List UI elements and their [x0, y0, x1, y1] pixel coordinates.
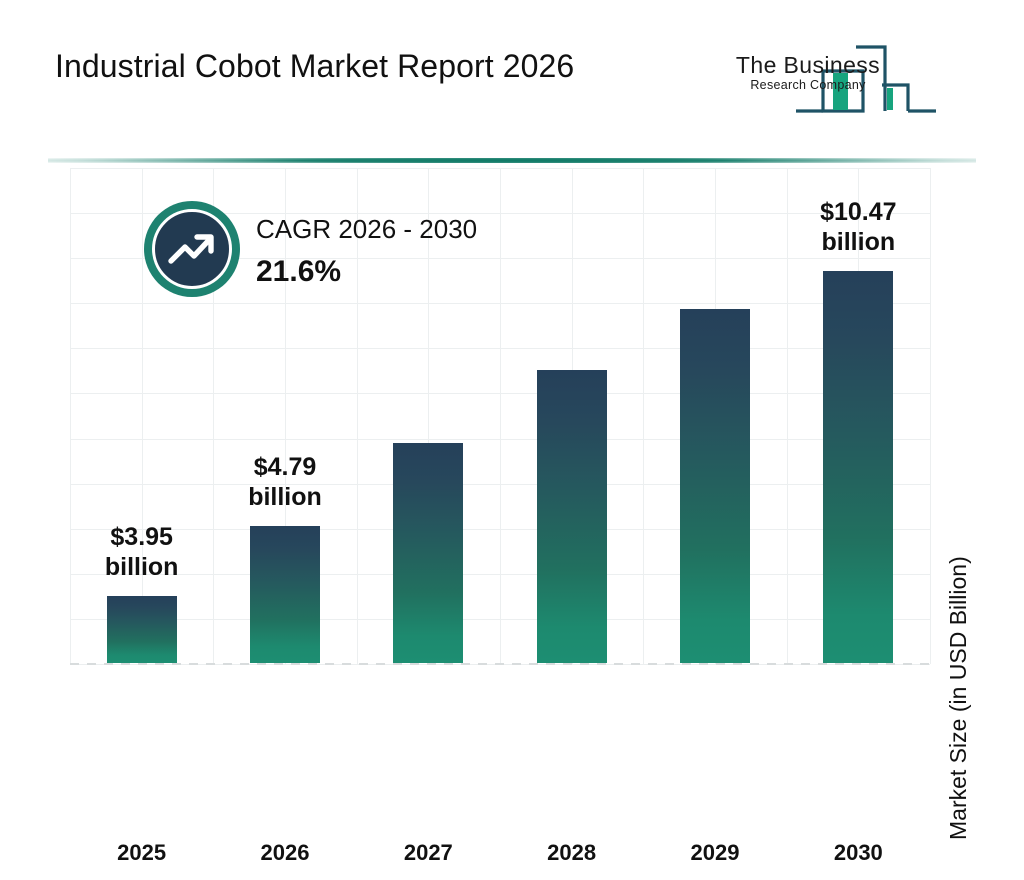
x-tick-2026: 2026: [225, 840, 345, 866]
value-label-line: billion: [67, 553, 217, 583]
bar-2027: [393, 443, 463, 663]
cagr-range-label: CAGR 2026 - 2030: [256, 215, 477, 244]
header-divider: [48, 158, 976, 163]
header: Industrial Cobot Market Report 2026 The …: [0, 0, 1024, 150]
cagr-badge: [144, 201, 240, 297]
value-label-line: $4.79: [210, 453, 360, 483]
x-tick-2030: 2030: [798, 840, 918, 866]
cagr-badge-disc: [152, 209, 232, 289]
y-axis-title: Market Size (in USD Billion): [945, 40, 979, 440]
x-axis-tick-labels: 202520262027202820292030: [70, 840, 930, 880]
bar-2026: [250, 526, 320, 663]
value-label-line: billion: [783, 228, 933, 258]
bar-2030: [823, 271, 893, 663]
cagr-value: 21.6%: [256, 255, 477, 288]
logo-line-1: The Business: [728, 53, 888, 77]
x-tick-2027: 2027: [368, 840, 488, 866]
cagr-text-block: CAGR 2026 - 2030 21.6%: [256, 215, 477, 288]
value-label-line: $10.47: [783, 198, 933, 228]
x-tick-2029: 2029: [655, 840, 775, 866]
axis-baseline: [70, 663, 930, 665]
bar-chart: $3.95billion$4.79billion$10.47billion 20…: [48, 168, 976, 728]
value-label-line: billion: [210, 483, 360, 513]
logo-line-2: Research Company: [728, 78, 888, 93]
bar-2025: [107, 596, 177, 663]
value-label-2030: $10.47billion: [783, 198, 933, 257]
y-axis-title-text: Market Size (in USD Billion): [945, 440, 972, 840]
trending-up-arrow-icon: [166, 229, 218, 269]
company-logo: The Business Research Company: [722, 33, 972, 123]
cagr-callout: CAGR 2026 - 2030 21.6%: [96, 201, 526, 306]
value-label-2026: $4.79billion: [210, 453, 360, 512]
bar-2028: [537, 370, 607, 663]
bar-2029: [680, 309, 750, 663]
value-label-line: $3.95: [67, 523, 217, 553]
x-tick-2025: 2025: [82, 840, 202, 866]
x-tick-2028: 2028: [512, 840, 632, 866]
page-title: Industrial Cobot Market Report 2026: [55, 48, 574, 85]
value-label-2025: $3.95billion: [67, 523, 217, 582]
logo-wordmark: The Business Research Company: [728, 53, 888, 93]
